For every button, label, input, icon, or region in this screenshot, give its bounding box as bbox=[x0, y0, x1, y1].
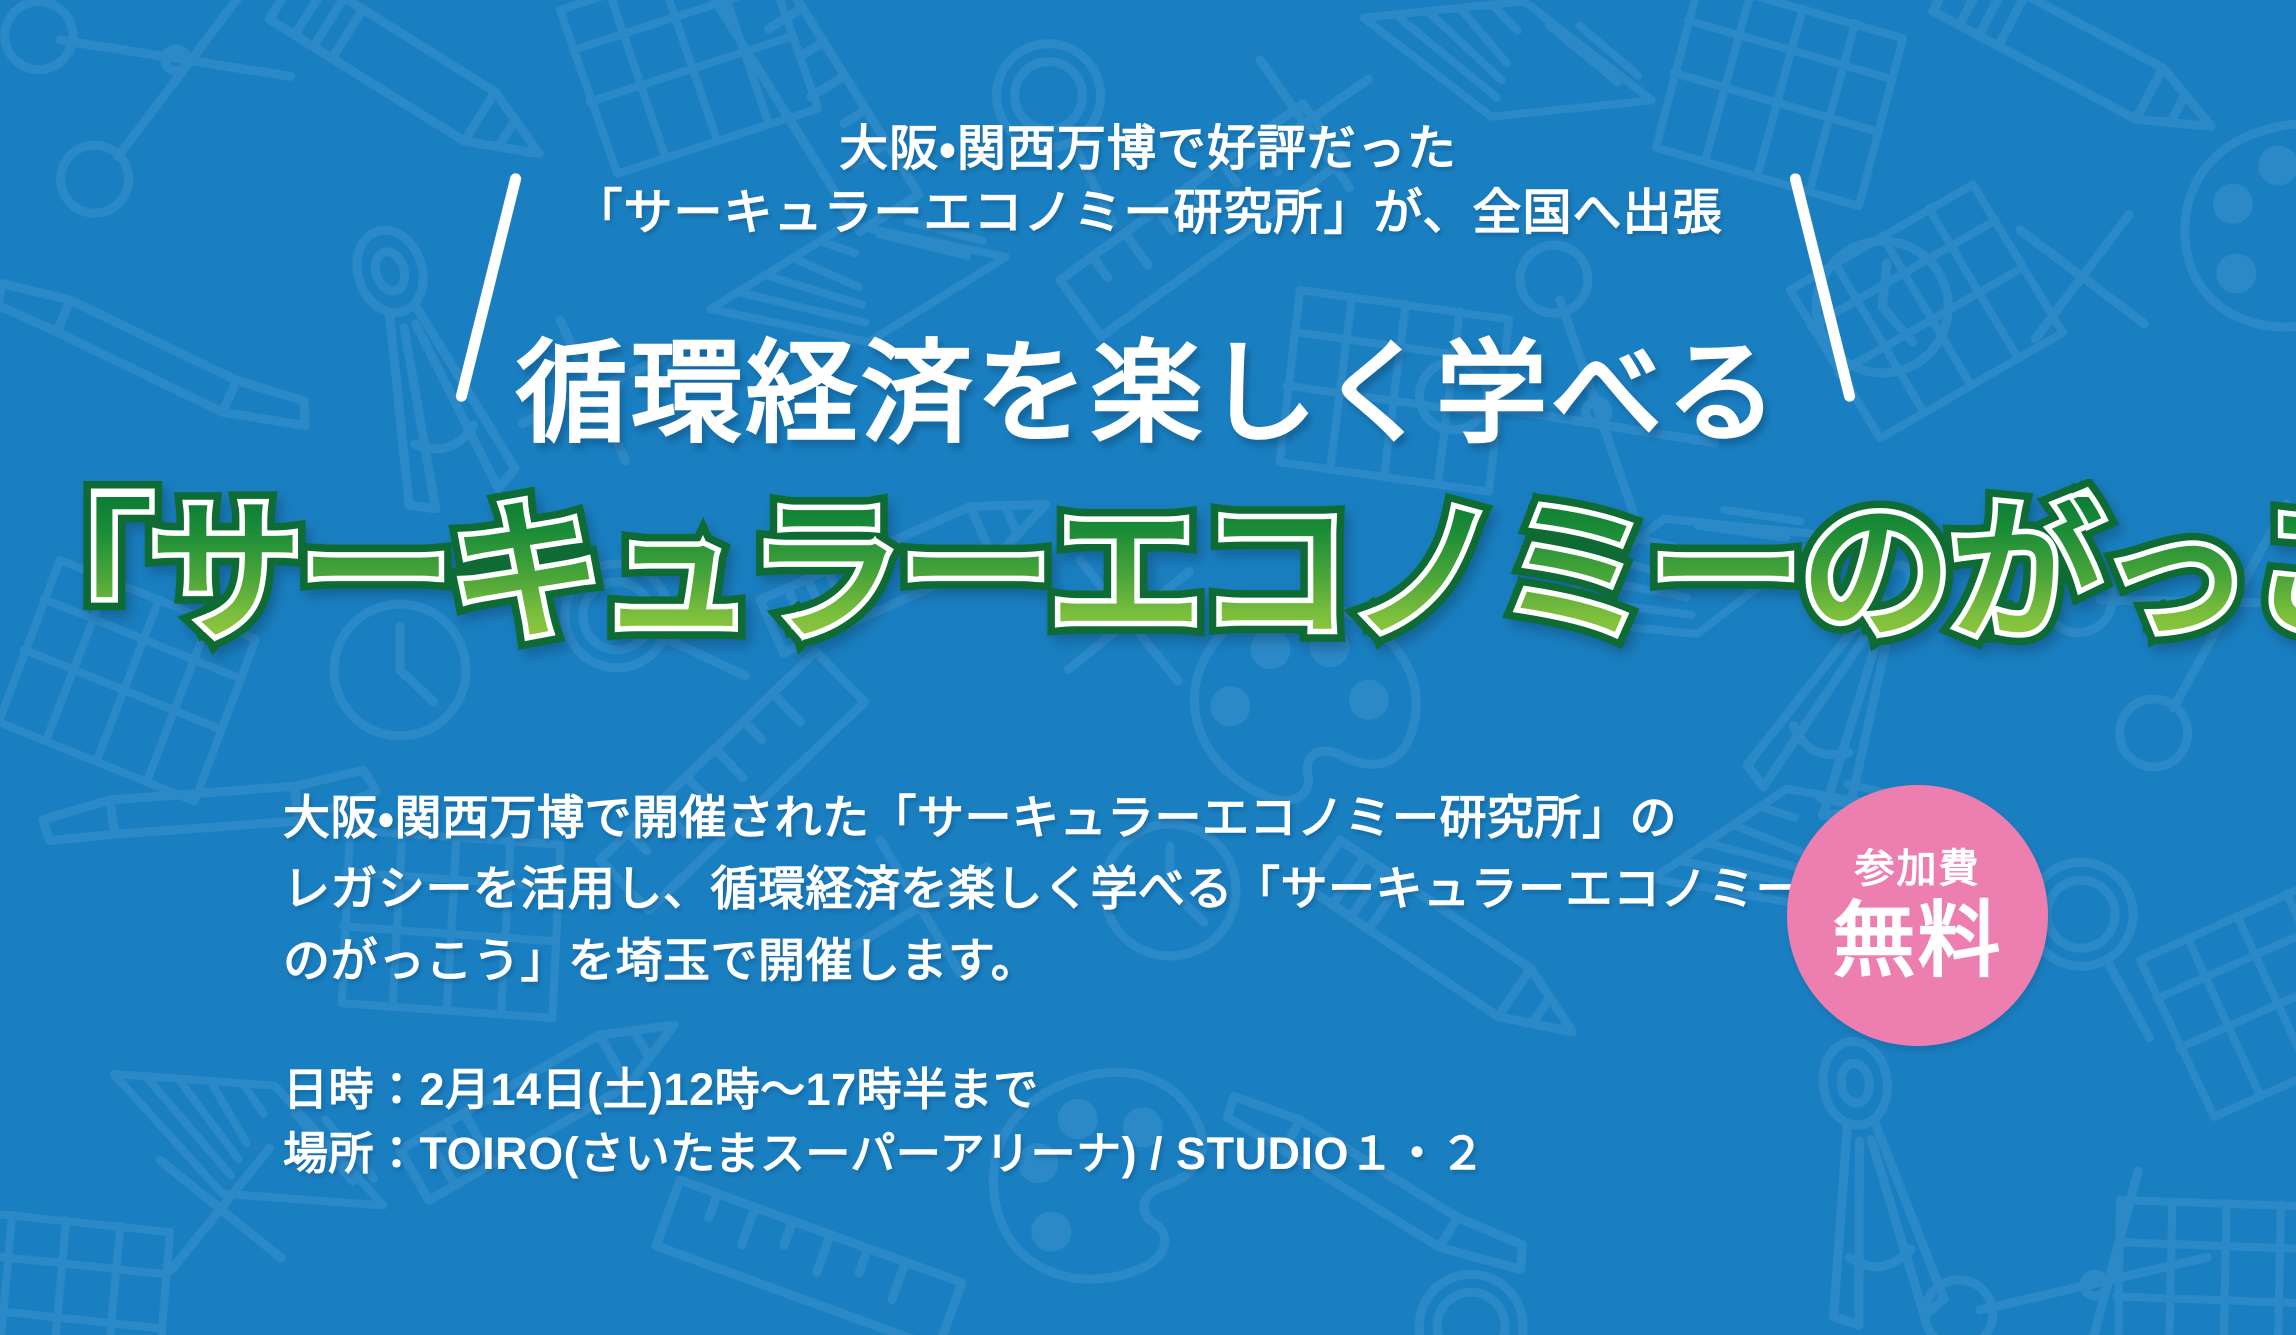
event-details: 日時：2月14日(土)12時〜17時半まで 場所：TOIRO(さいたまスーパーア… bbox=[283, 1058, 1486, 1186]
description-line-3: のがっこう」を埼玉で開催します。 bbox=[283, 925, 1783, 996]
description-paragraph: 大阪・関西万博で開催された「サーキュラーエコノミー研究所」の レガシーを活用し、… bbox=[283, 782, 1783, 996]
event-date: 日時：2月14日(土)12時〜17時半まで bbox=[283, 1058, 1486, 1122]
badge-label-free: 無料 bbox=[1833, 899, 2003, 982]
page-title: 循環経済を楽しく学べる bbox=[0, 335, 2296, 454]
green-title-gradient-fill: 「サーキュラーエコノミーのがっこう」 bbox=[0, 497, 2296, 649]
lead-line-1: 大阪・関西万博で好評だった bbox=[0, 118, 2296, 182]
event-venue: 場所：TOIRO(さいたまスーパーアリーナ) / STUDIO１・２ bbox=[283, 1122, 1486, 1186]
description-line-1: 大阪・関西万博で開催された「サーキュラーエコノミー研究所」の bbox=[283, 782, 1783, 853]
lead-copy: 大阪・関西万博で好評だった 「サーキュラーエコノミー研究所」が、全国へ出張 bbox=[0, 118, 2296, 245]
green-title-wrapper: 「サーキュラーエコノミーのがっこう」 「サーキュラーエコノミーのがっこう」 「サ… bbox=[0, 497, 2296, 737]
badge-label-fee: 参加費 bbox=[1855, 849, 1981, 889]
poster-canvas: 大阪・関西万博で好評だった 「サーキュラーエコノミー研究所」が、全国へ出張 循環… bbox=[0, 0, 2296, 1335]
green-title: 「サーキュラーエコノミーのがっこう」 「サーキュラーエコノミーのがっこう」 「サ… bbox=[0, 497, 2296, 649]
lead-line-2: 「サーキュラーエコノミー研究所」が、全国へ出張 bbox=[0, 182, 2296, 246]
description-line-2: レガシーを活用し、循環経済を楽しく学べる「サーキュラーエコノミー bbox=[283, 853, 1783, 924]
free-admission-badge: 参加費 無料 bbox=[1787, 785, 2048, 1046]
